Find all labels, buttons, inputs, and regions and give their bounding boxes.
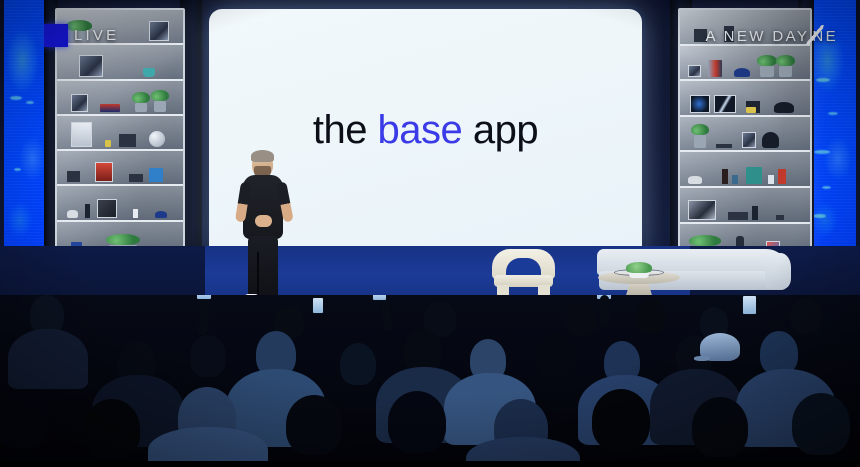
audience-phone (742, 295, 757, 315)
lower-third-title: A NEW DAY NE (706, 26, 838, 46)
speaker-trousers (248, 236, 278, 298)
table-plant (626, 262, 652, 273)
armchair (492, 249, 555, 297)
shelf-row (57, 81, 183, 116)
slide-headline-accent: base (378, 108, 463, 152)
broadcast-video-frame: the base app (0, 0, 860, 467)
audience-head (84, 399, 140, 459)
sofa-arm (765, 253, 791, 289)
audience-head (566, 303, 596, 336)
audience-head (692, 397, 748, 457)
letterbox-bottom-bar (0, 461, 860, 467)
slide-headline-after: app (462, 108, 538, 152)
audience-head (592, 389, 650, 451)
shelf-row (680, 117, 810, 153)
speaker-leg-gap (257, 252, 259, 298)
audience-phone (196, 295, 212, 300)
live-badge: LIVE (44, 24, 119, 47)
slide-headline-before: the (313, 108, 378, 152)
shelf-row (680, 81, 810, 117)
audience-head (190, 335, 226, 377)
lower-third-text-before: A NEW DAY (706, 28, 810, 45)
audience-phone (372, 295, 387, 301)
shelf-row (57, 186, 183, 221)
live-square-icon (44, 24, 68, 47)
audience-head (388, 391, 446, 453)
speaker-hands (255, 215, 272, 227)
audience-head (790, 297, 822, 333)
shelf-row (57, 116, 183, 151)
audience-head (286, 395, 342, 455)
shelf-row (57, 45, 183, 80)
shelf-row (57, 151, 183, 186)
audience (0, 295, 860, 467)
audience-cap (700, 333, 740, 361)
shelf-row (680, 188, 810, 224)
shelf-row (680, 46, 810, 82)
audience-phone (312, 297, 324, 314)
audience-head (340, 343, 376, 385)
shelf-row (680, 152, 810, 188)
audience-head (0, 391, 48, 449)
speaker-hair (251, 150, 274, 162)
audience-head (636, 299, 666, 333)
audience-shoulders (8, 329, 88, 389)
audience-head (792, 393, 850, 455)
audience-head (536, 333, 574, 377)
keynote-speaker (238, 152, 290, 310)
live-label: LIVE (74, 27, 119, 44)
slide-headline: the base app (313, 108, 538, 153)
audience-raised-arm (600, 295, 609, 325)
